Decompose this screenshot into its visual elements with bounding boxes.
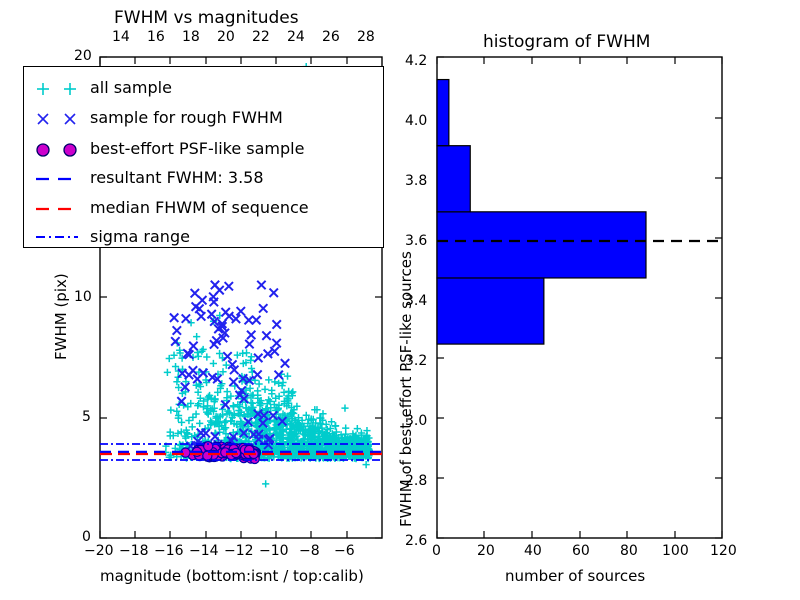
histogram-bar [437,212,646,278]
figure-canvas: FWHM vs magnitudes 14 16 18 20 22 24 26 … [0,0,800,600]
histogram-bar [437,278,544,344]
histogram-bar [437,146,470,212]
histogram-bar [437,80,449,146]
histogram-bars [437,80,646,345]
right-plot-svg [0,0,800,600]
